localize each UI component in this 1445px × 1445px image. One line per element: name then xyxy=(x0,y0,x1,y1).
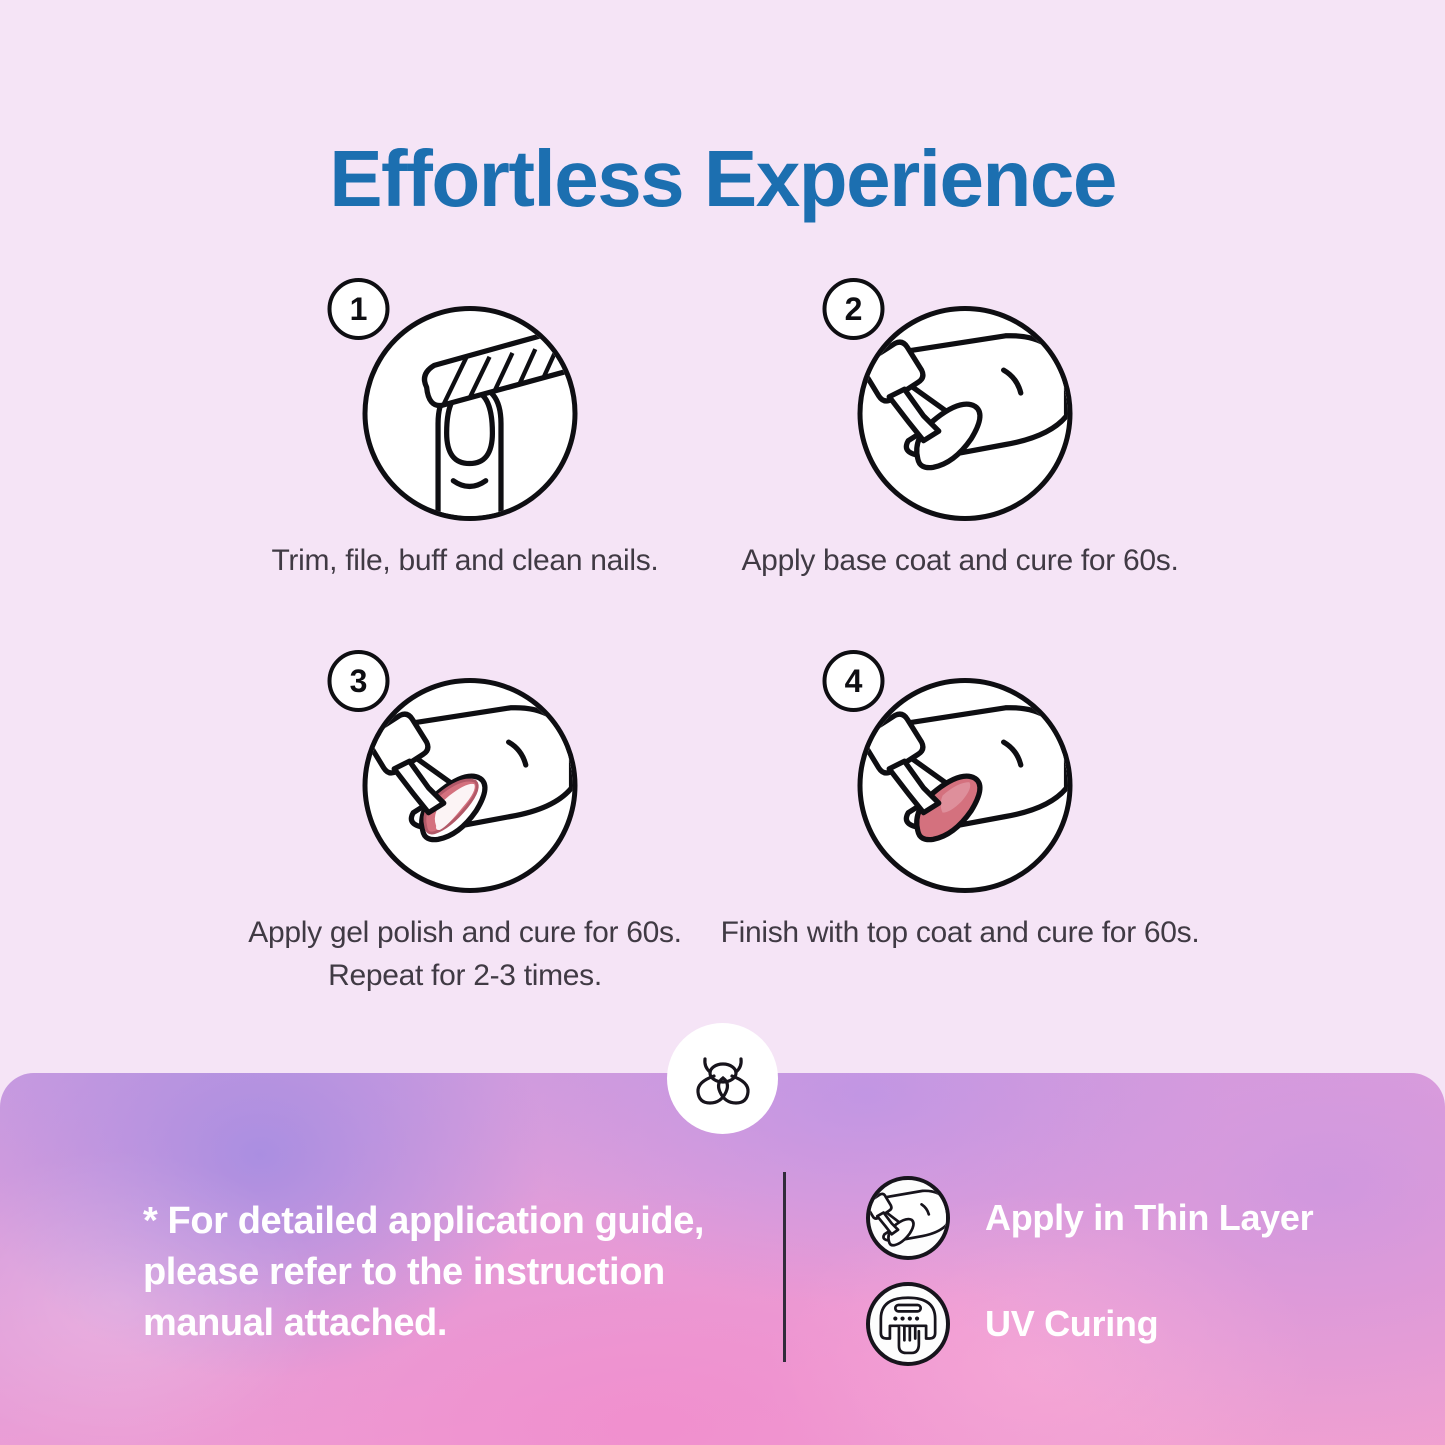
footnote-text: * For detailed application guide, please… xyxy=(143,1196,743,1349)
step-caption: Apply base coat and cure for 60s. xyxy=(720,540,1200,583)
step-number-badge: 2 xyxy=(823,278,885,340)
nail-file-icon xyxy=(363,306,578,521)
thin-layer-brush-icon xyxy=(866,1176,950,1260)
top-section: Effortless Experience 1 xyxy=(0,0,1445,1080)
feature-item-thin-layer: Apply in Thin Layer xyxy=(866,1175,1386,1261)
step-caption: Finish with top coat and cure for 60s. xyxy=(720,912,1200,955)
uv-lamp-icon xyxy=(866,1282,950,1366)
step-number-badge: 4 xyxy=(823,650,885,712)
step-item-2: 2 xyxy=(720,278,1200,638)
page-title: Effortless Experience xyxy=(0,133,1445,225)
bee-logo-icon xyxy=(692,1050,754,1108)
step-item-3: 3 xyxy=(225,650,705,1010)
top-coat-brush-icon xyxy=(858,678,1073,893)
feature-item-uv-curing: UV Curing xyxy=(866,1281,1386,1367)
vertical-divider xyxy=(783,1172,786,1362)
brand-logo-badge xyxy=(667,1023,778,1134)
step-number-badge: 3 xyxy=(328,650,390,712)
base-coat-brush-icon xyxy=(858,306,1073,521)
step-illustration-2: 2 xyxy=(823,278,1098,533)
feature-label: UV Curing xyxy=(985,1303,1158,1345)
gel-polish-brush-icon xyxy=(363,678,578,893)
step-caption: Apply gel polish and cure for 60s. Repea… xyxy=(225,912,705,998)
step-item-4: 4 xyxy=(720,650,1200,1010)
step-illustration-1: 1 xyxy=(328,278,603,533)
feature-list: Apply in Thin Layer xyxy=(866,1175,1386,1387)
step-illustration-3: 3 xyxy=(328,650,603,905)
steps-grid: 1 xyxy=(205,278,1240,1018)
step-illustration-4: 4 xyxy=(823,650,1098,905)
step-number-badge: 1 xyxy=(328,278,390,340)
feature-label: Apply in Thin Layer xyxy=(985,1197,1313,1239)
step-caption: Trim, file, buff and clean nails. xyxy=(225,540,705,583)
step-item-1: 1 xyxy=(225,278,705,638)
